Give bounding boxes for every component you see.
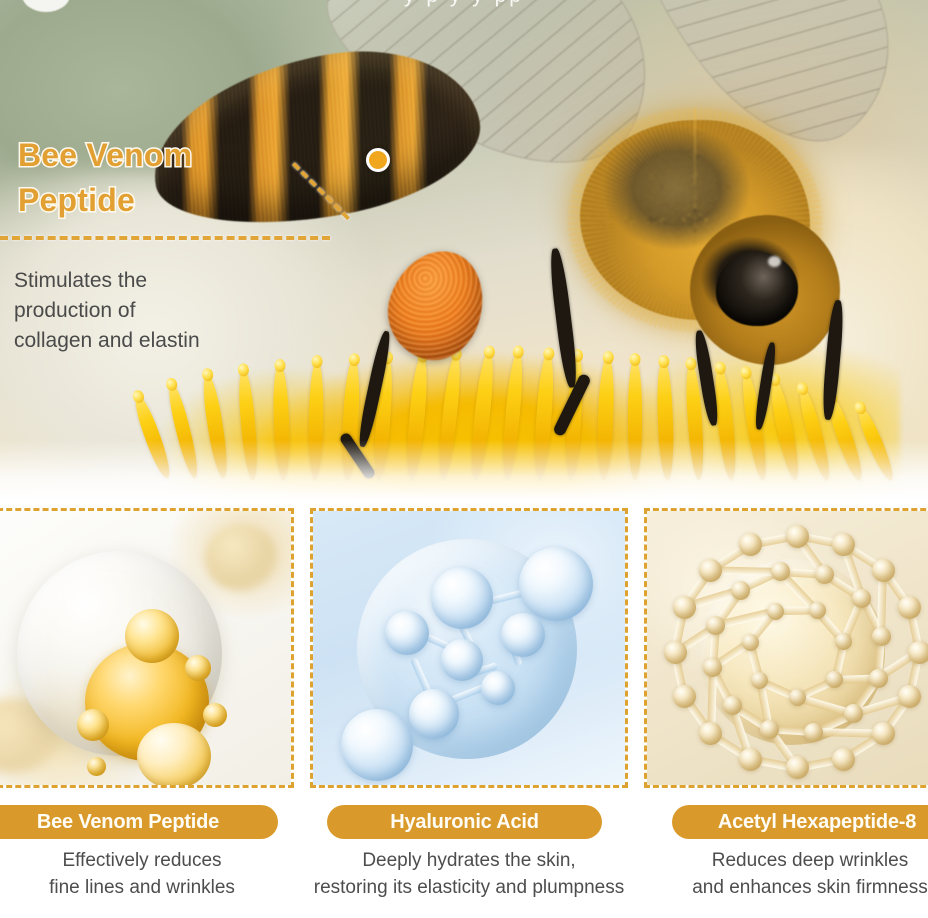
callout-description: Stimulates the production of collagen an… xyxy=(14,266,284,356)
molecule-atom xyxy=(731,581,750,600)
caption-line-2: restoring its elasticity and plumpness xyxy=(298,875,640,902)
card-caption-hyaluronic-acid: Deeply hydrates the skin, restoring its … xyxy=(298,848,640,902)
card-label-bee-venom-peptide[interactable]: Bee Venom Peptide xyxy=(0,805,278,839)
molecule-atom xyxy=(519,547,593,621)
molecule-atom xyxy=(835,633,852,650)
callout-desc-line-1: Stimulates the xyxy=(14,266,284,296)
molecule-atom xyxy=(760,720,779,739)
caption-line-1: Deeply hydrates the skin, xyxy=(298,848,640,875)
molecule-atom xyxy=(767,603,784,620)
product-infographic-page: y p y y pp Bee Venom Peptide Stimulates … xyxy=(0,0,928,918)
golden-serum-bubble-image xyxy=(0,511,291,785)
molecule-cage xyxy=(661,521,928,783)
callout-title-line-2: Peptide xyxy=(18,178,308,223)
ingredient-card-acetyl-hexapeptide-8[interactable] xyxy=(644,508,928,788)
molecule-atom xyxy=(385,611,429,655)
callout-desc-line-2: production of xyxy=(14,296,284,326)
molecule-atom xyxy=(341,709,413,781)
serum-micro-droplet xyxy=(137,723,211,788)
molecule-atom xyxy=(673,596,696,619)
bee-compound-eye xyxy=(716,252,798,326)
caption-line-2: fine lines and wrinkles xyxy=(0,875,292,902)
ingredient-card-bee-venom-peptide[interactable] xyxy=(0,508,294,788)
card-caption-bee-venom-peptide: Effectively reduces fine lines and wrink… xyxy=(0,848,292,902)
molecule-atom xyxy=(481,671,515,705)
molecule-atom xyxy=(739,533,762,556)
blue-water-molecule-image xyxy=(313,511,625,785)
ingredient-card-hyaluronic-acid[interactable] xyxy=(310,508,628,788)
serum-micro-droplet xyxy=(87,757,106,776)
molecule-atom xyxy=(742,634,759,651)
callout-dashed-underline xyxy=(0,236,330,240)
molecule-atom xyxy=(723,696,742,715)
molecule-atom xyxy=(786,756,809,779)
hero-bee-photo: y p y y pp xyxy=(0,0,928,500)
molecule-atom xyxy=(501,613,545,657)
molecule-atom xyxy=(673,685,696,708)
molecule-atom xyxy=(786,525,809,548)
callout-title: Bee Venom Peptide xyxy=(18,133,308,223)
molecule-atom xyxy=(872,627,891,646)
golden-molecule-lattice-image xyxy=(647,511,928,785)
molecule-atom xyxy=(844,704,863,723)
molecule-atom xyxy=(441,639,483,681)
top-headline-cropped: y p y y pp xyxy=(0,0,928,8)
caption-line-1: Reduces deep wrinkles xyxy=(660,848,928,875)
molecule-atom xyxy=(898,685,921,708)
serum-bubble-shell xyxy=(17,551,222,756)
molecule-atom xyxy=(872,559,895,582)
ingredient-cards-section: Bee Venom Peptide Hyaluronic Acid Acetyl… xyxy=(0,500,928,918)
molecule-atom xyxy=(804,723,823,742)
molecule-atom xyxy=(826,671,843,688)
serum-micro-droplet xyxy=(185,655,211,681)
hero-bottom-fade xyxy=(0,440,928,500)
molecule-atom xyxy=(872,722,895,745)
molecule-atom xyxy=(409,689,459,739)
caption-line-1: Effectively reduces xyxy=(0,848,292,875)
serum-micro-droplet xyxy=(203,703,227,727)
molecule-atom xyxy=(739,748,762,771)
molecule-atom xyxy=(898,596,921,619)
molecule-atom xyxy=(809,602,826,619)
serum-micro-droplet xyxy=(125,609,179,663)
molecule-atom xyxy=(869,669,888,688)
molecule-atom xyxy=(852,589,871,608)
molecule-atom xyxy=(706,616,725,635)
card-caption-acetyl-hexapeptide-8: Reduces deep wrinkles and enhances skin … xyxy=(660,848,928,902)
background-droplet xyxy=(205,525,277,591)
caption-line-2: and enhances skin firmness xyxy=(660,875,928,902)
serum-micro-droplet xyxy=(77,709,109,741)
card-label-acetyl-hexapeptide-8[interactable]: Acetyl Hexapeptide-8 xyxy=(672,805,928,839)
molecule-atom xyxy=(431,567,493,629)
molecule-atom xyxy=(664,641,687,664)
callout-title-line-1: Bee Venom xyxy=(18,133,308,178)
molecule-atom xyxy=(832,748,855,771)
callout-desc-line-3: collagen and elastin xyxy=(14,326,284,356)
bee-eye-glint xyxy=(768,256,781,267)
callout-pointer-dot xyxy=(366,148,390,172)
molecule-atom xyxy=(699,559,722,582)
card-label-hyaluronic-acid[interactable]: Hyaluronic Acid xyxy=(327,805,602,839)
molecule-atom xyxy=(908,641,928,664)
